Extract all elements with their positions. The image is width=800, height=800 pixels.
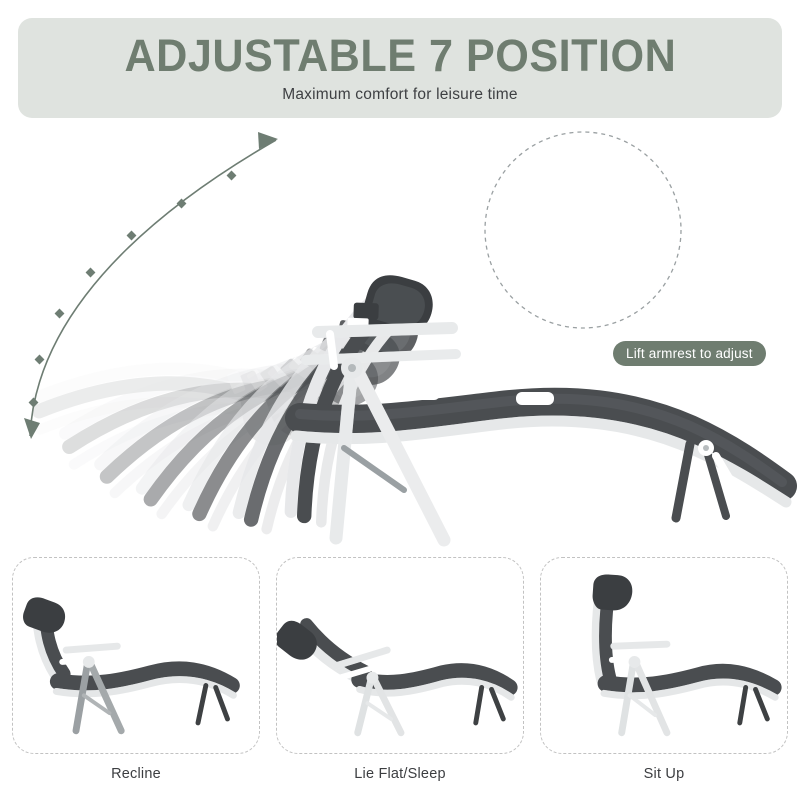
page-subtitle: Maximum comfort for leisure time <box>282 87 518 103</box>
position-cards: Recline <box>12 557 788 792</box>
position-card-recline[interactable]: Recline <box>12 557 260 792</box>
position-card-lie-flat[interactable]: Lie Flat/Sleep <box>276 557 524 792</box>
zoom-callout-circle <box>485 132 681 332</box>
position-card-sit-up[interactable]: Sit Up <box>540 557 788 792</box>
header-banner: ADJUSTABLE 7 POSITION Maximum comfort fo… <box>18 18 782 118</box>
chair-lie-flat-icon <box>277 558 523 753</box>
hero-illustration <box>0 118 800 548</box>
arc-arrow-end <box>258 132 278 149</box>
card-label-lie-flat: Lie Flat/Sleep <box>276 754 524 792</box>
card-image-recline <box>12 557 260 754</box>
chair-recline-icon <box>13 558 259 753</box>
card-label-recline: Recline <box>12 754 260 792</box>
card-image-lie-flat <box>276 557 524 754</box>
chair-sit-up-icon <box>541 558 787 753</box>
lift-armrest-callout-label: Lift armrest to adjust <box>613 341 766 366</box>
page-title: ADJUSTABLE 7 POSITION <box>124 33 676 78</box>
card-image-sit-up <box>540 557 788 754</box>
card-label-sit-up: Sit Up <box>540 754 788 792</box>
